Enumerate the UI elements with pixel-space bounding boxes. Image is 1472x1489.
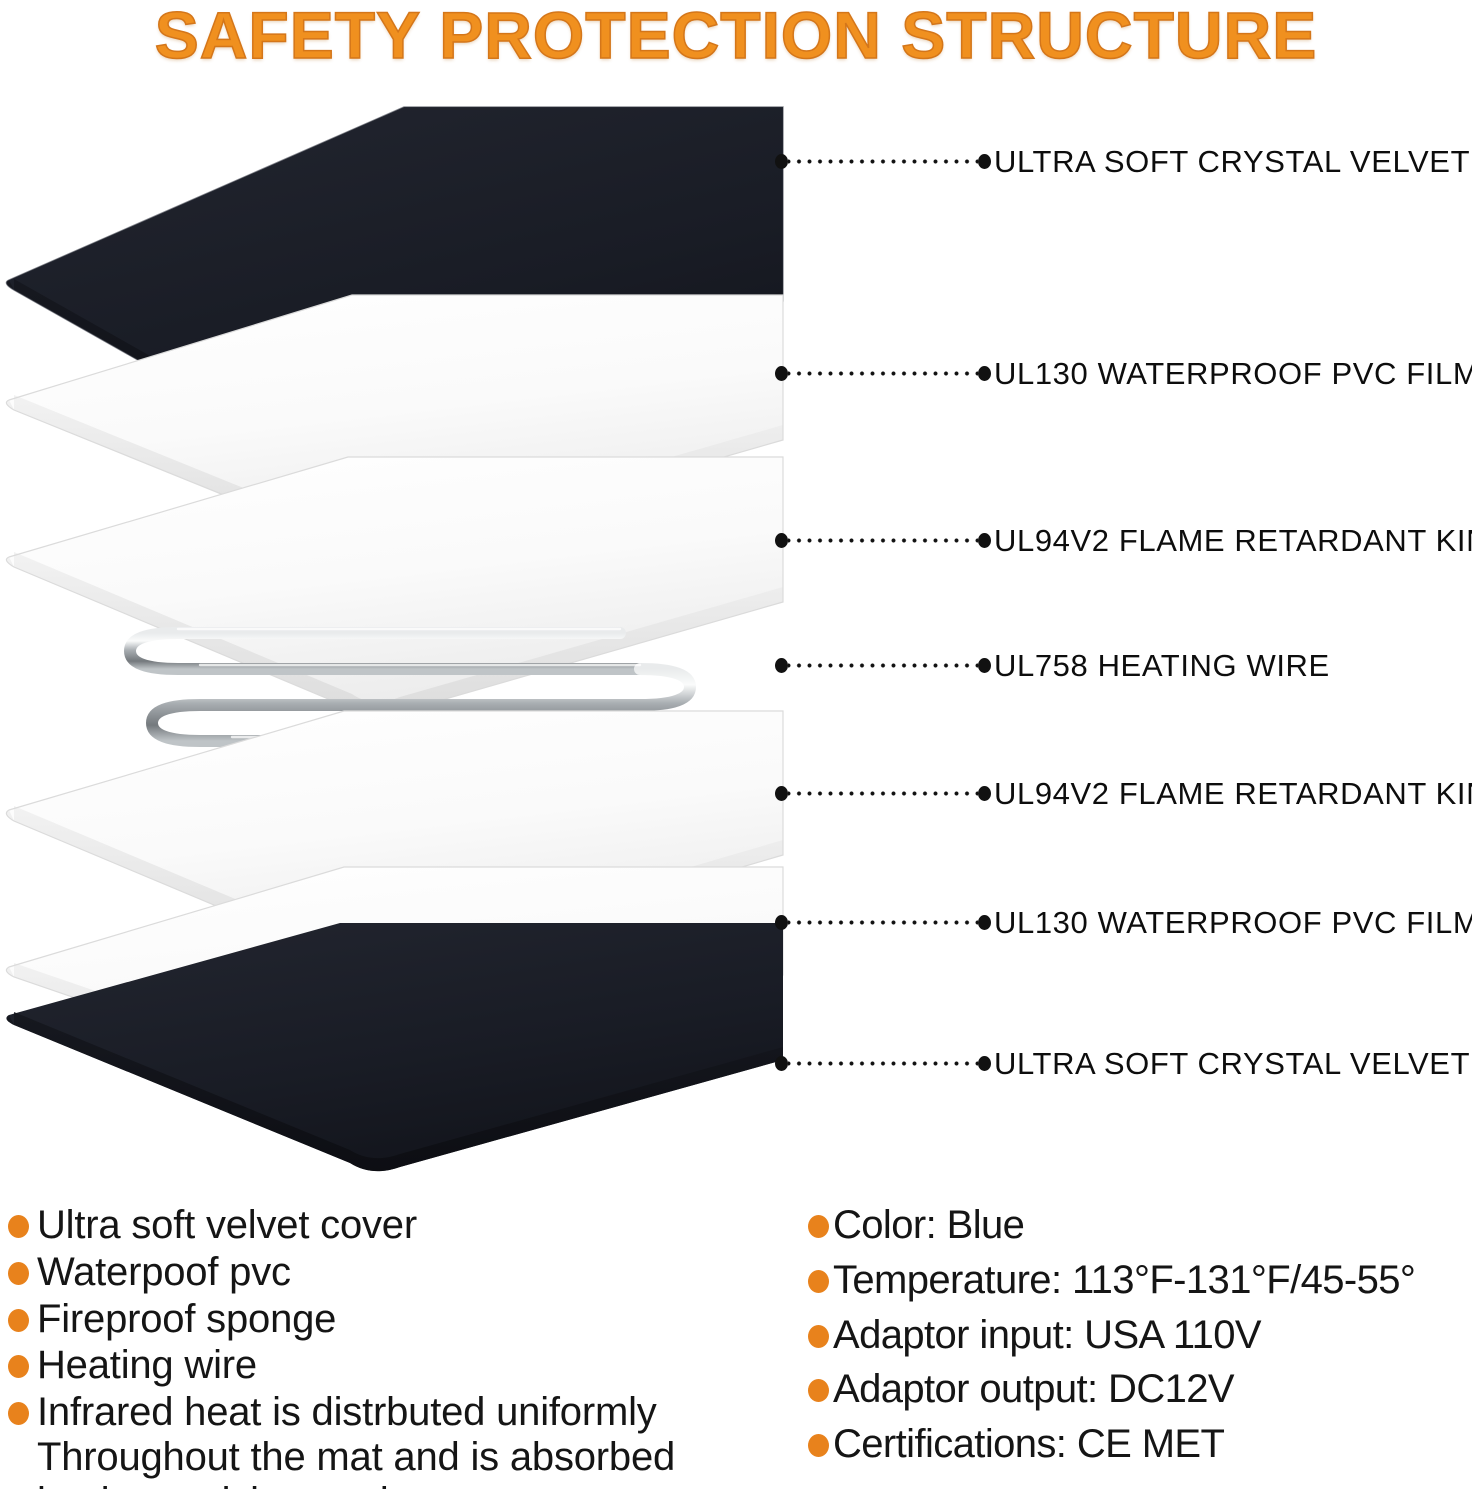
list-item: Heating wire — [8, 1343, 778, 1388]
callout-label: UL94V2 FLAME RETARDANT KINT — [994, 778, 1472, 809]
callout-label: UL758 HEATING WIRE — [994, 650, 1330, 681]
list-item-label: Certifications: CE MET — [833, 1422, 1224, 1467]
leader-dot-start — [775, 1056, 788, 1071]
page-title: SAFETY PROTECTION STRUCTURE — [0, 0, 1472, 74]
callout-label: ULTRA SOFT CRYSTAL VELVET — [994, 146, 1470, 177]
specs-list: Color: Blue Temperature: 113°F-131°F/45-… — [808, 1203, 1472, 1477]
leader-dot-start — [775, 658, 788, 673]
callout-1: ULTRA SOFT CRYSTAL VELVET — [775, 148, 1470, 174]
leader-line — [788, 920, 978, 925]
callout-6: UL130 WATERPROOF PVC FILM — [775, 909, 1472, 935]
list-item-label: Infrared heat is distrbuted uniformly Th… — [37, 1390, 675, 1489]
callout-2: UL130 WATERPROOF PVC FILM — [775, 360, 1472, 386]
callout-7: ULTRA SOFT CRYSTAL VELVET — [775, 1050, 1470, 1076]
bullet-icon — [8, 1402, 29, 1425]
callout-label: UL130 WATERPROOF PVC FILM — [994, 358, 1472, 389]
bullet-icon — [8, 1355, 29, 1378]
list-item: Ultra soft velvet cover — [8, 1203, 778, 1248]
leader-dot-end — [978, 658, 991, 673]
list-item-label: Adaptor input: USA 110V — [833, 1313, 1261, 1358]
list-item-label: Color: Blue — [833, 1203, 1024, 1248]
bullet-icon — [808, 1379, 829, 1402]
list-item-label: Ultra soft velvet cover — [37, 1203, 417, 1248]
callout-4: UL758 HEATING WIRE — [775, 652, 1330, 678]
features-list: Ultra soft velvet cover Waterpoof pvc Fi… — [8, 1203, 778, 1489]
bullet-icon — [808, 1215, 829, 1238]
list-item: Adaptor output: DC12V — [808, 1367, 1472, 1412]
exploded-layer-diagram — [0, 95, 810, 1175]
leader-line — [788, 538, 978, 543]
callout-label: UL94V2 FLAME RETARDANT KINT — [994, 525, 1472, 556]
list-item: Certifications: CE MET — [808, 1422, 1472, 1467]
leader-line — [788, 663, 978, 668]
leader-line — [788, 791, 978, 796]
bullet-icon — [808, 1434, 829, 1457]
list-item-label: Heating wire — [37, 1343, 257, 1388]
leader-dot-end — [978, 786, 991, 801]
leader-dot-end — [978, 533, 991, 548]
layer-flame-retardant-knit-top — [6, 457, 783, 717]
leader-dot-start — [775, 366, 788, 381]
callout-3: UL94V2 FLAME RETARDANT KINT — [775, 527, 1472, 553]
safety-protection-structure-infographic: SAFETY PROTECTION STRUCTURE — [0, 0, 1472, 1489]
leader-line — [788, 371, 978, 376]
bullet-icon — [8, 1215, 29, 1238]
list-item-label: Fireproof sponge — [37, 1297, 336, 1342]
bullet-icon — [808, 1270, 829, 1293]
bullet-icon — [8, 1309, 29, 1332]
bullet-icon — [8, 1262, 29, 1285]
callout-5: UL94V2 FLAME RETARDANT KINT — [775, 780, 1472, 806]
list-item: Fireproof sponge — [8, 1297, 778, 1342]
list-item: Adaptor input: USA 110V — [808, 1313, 1472, 1358]
leader-dot-start — [775, 533, 788, 548]
list-item-label: Waterpoof pvc — [37, 1250, 291, 1295]
leader-dot-start — [775, 786, 788, 801]
callout-label: UL130 WATERPROOF PVC FILM — [994, 907, 1472, 938]
list-item: Infrared heat is distrbuted uniformly Th… — [8, 1390, 778, 1489]
leader-line — [788, 159, 978, 164]
list-item: Temperature: 113°F-131°F/45-55° — [808, 1258, 1472, 1303]
leader-line — [788, 1061, 978, 1066]
leader-dot-start — [775, 154, 788, 169]
list-item: Color: Blue — [808, 1203, 1472, 1248]
leader-dot-end — [978, 915, 991, 930]
leader-dot-end — [978, 366, 991, 381]
bullet-icon — [808, 1325, 829, 1348]
callout-label: ULTRA SOFT CRYSTAL VELVET — [994, 1048, 1470, 1079]
list-item-label: Temperature: 113°F-131°F/45-55° — [833, 1258, 1415, 1303]
list-item-label: Adaptor output: DC12V — [833, 1367, 1234, 1412]
leader-dot-end — [978, 1056, 991, 1071]
leader-dot-end — [978, 154, 991, 169]
leader-dot-start — [775, 915, 788, 930]
list-item: Waterpoof pvc — [8, 1250, 778, 1295]
